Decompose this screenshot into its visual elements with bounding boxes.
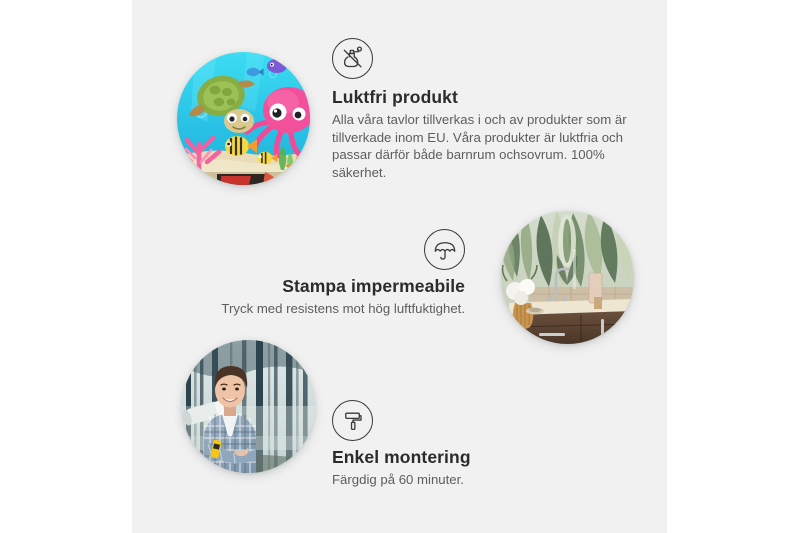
feature-title: Luktfri produkt xyxy=(332,87,632,107)
feature-body: Färgdig på 60 minuter. xyxy=(332,471,622,489)
photo-underwater-kids-mural[interactable] xyxy=(177,52,310,185)
photo-bathroom-botanical-wallpaper[interactable] xyxy=(501,211,634,344)
screenshot-root: Luktfri produkt Alla våra tavlor tillver… xyxy=(0,0,800,533)
umbrella-icon xyxy=(424,229,465,270)
feature-body: Alla våra tavlor tillverkas i och av pro… xyxy=(332,111,632,181)
feature-title: Enkel montering xyxy=(332,447,622,467)
paint-roller-icon xyxy=(332,400,373,441)
feature-easy-mounting: Enkel montering Färgdig på 60 minuter. xyxy=(332,400,622,489)
no-spray-bottle-icon xyxy=(332,38,373,79)
feature-body: Tryck med resistens mot hög luftfuktighe… xyxy=(165,300,465,318)
feature-waterproof-print: Stampa impermeabile Tryck med resistens … xyxy=(165,229,465,318)
feature-odour-free: Luktfri produkt Alla våra tavlor tillver… xyxy=(332,38,632,181)
photo-woman-forest-wallpaper-roll[interactable] xyxy=(182,340,315,473)
feature-title: Stampa impermeabile xyxy=(165,276,465,296)
